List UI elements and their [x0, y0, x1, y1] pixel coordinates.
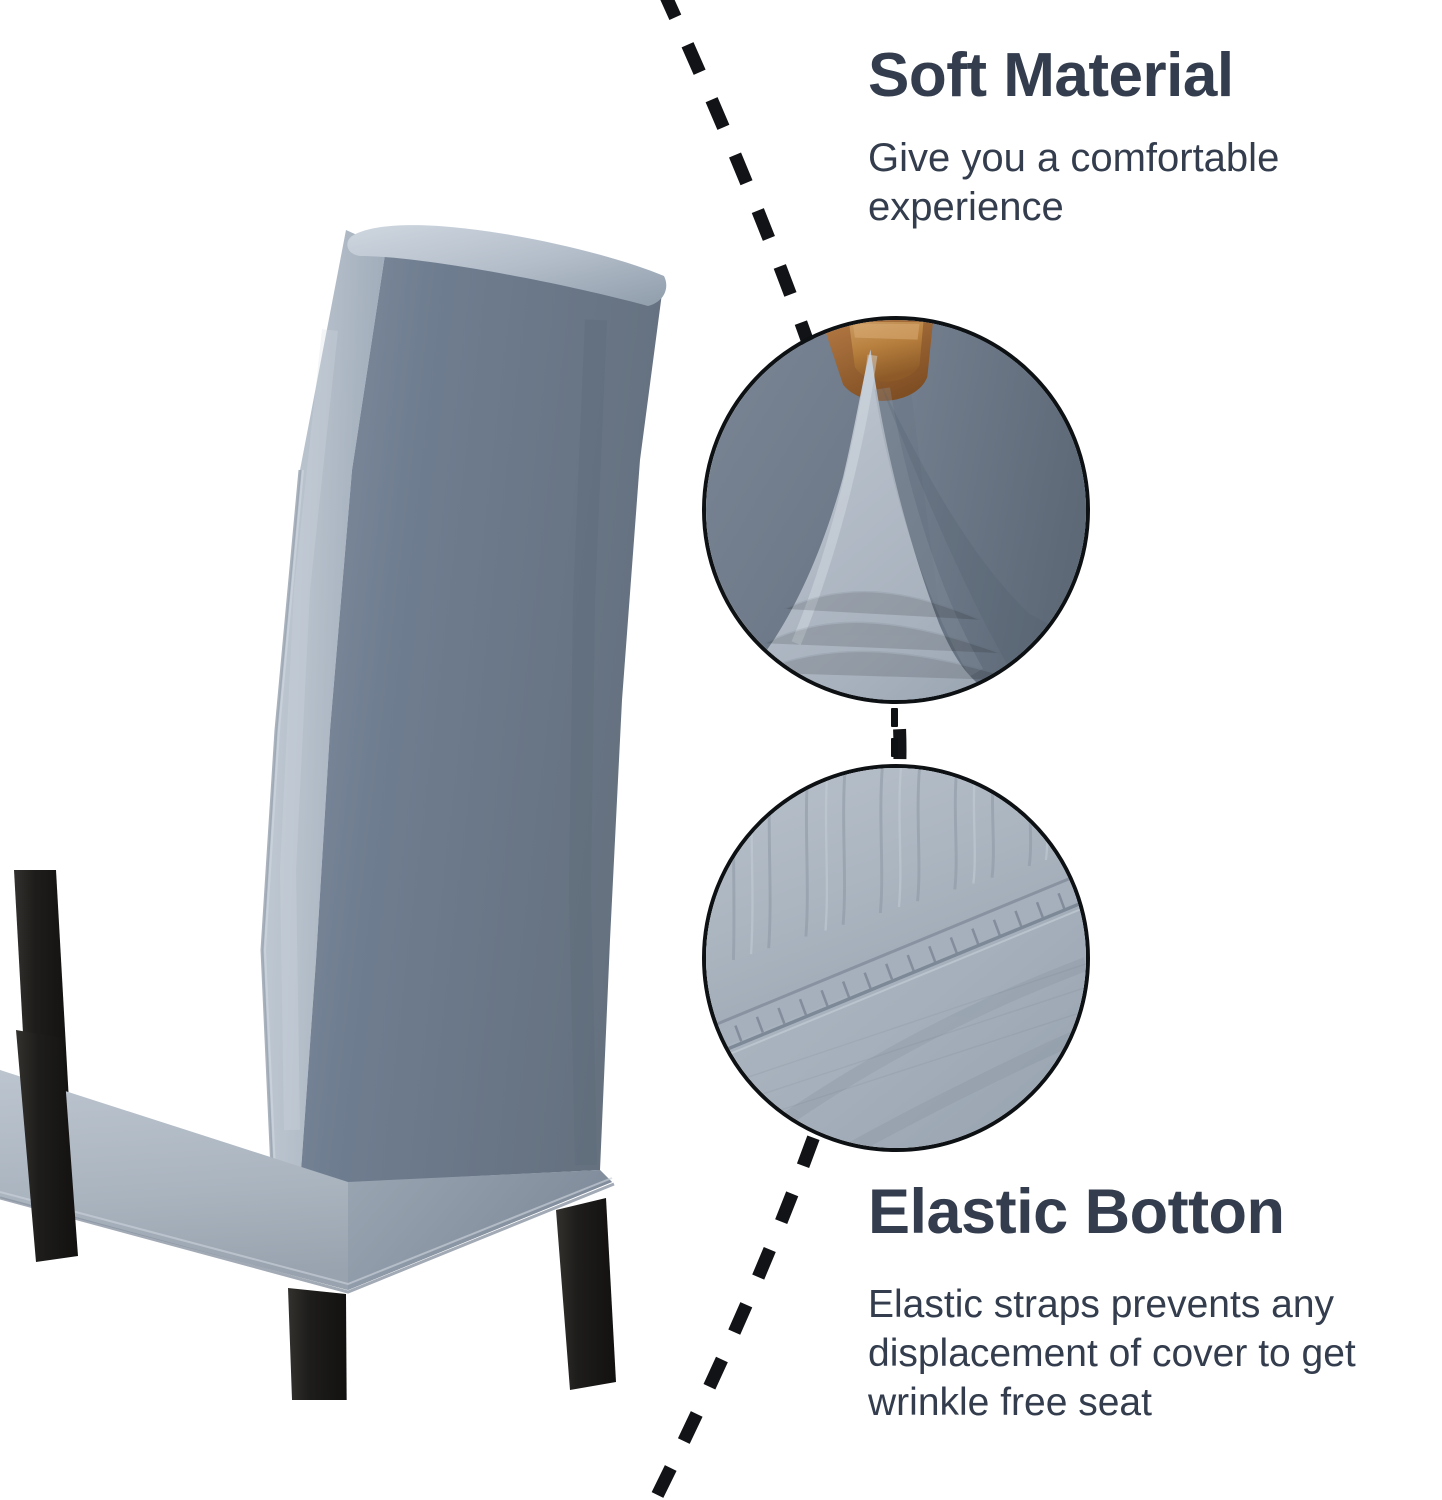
elastic-bottom-subline: Elastic straps prevents any displacement…: [868, 1280, 1434, 1427]
elastic-hem-icon: [706, 768, 1086, 1148]
inset-connector-dashes: [886, 706, 902, 762]
soft-material-subline: Give you a comfortable experience: [868, 134, 1428, 232]
soft-material-detail-inset: [702, 316, 1090, 704]
soft-material-headline: Soft Material: [868, 44, 1428, 108]
soft-material-text-block: Soft Material Give you a comfortable exp…: [868, 44, 1428, 232]
chair-back-cover: [262, 225, 666, 1185]
elastic-bottom-headline: Elastic Botton: [868, 1180, 1434, 1246]
product-feature-infographic: Soft Material Give you a comfortable exp…: [0, 0, 1442, 1500]
chair-leg-center: [288, 1288, 348, 1400]
chair-leg-right: [556, 1198, 616, 1390]
chair-product-photo: [0, 170, 700, 1400]
elastic-bottom-detail-inset: [702, 764, 1090, 1152]
fabric-pinch-icon: [706, 320, 1086, 700]
elastic-bottom-text-block: Elastic Botton Elastic straps prevents a…: [868, 1180, 1434, 1427]
